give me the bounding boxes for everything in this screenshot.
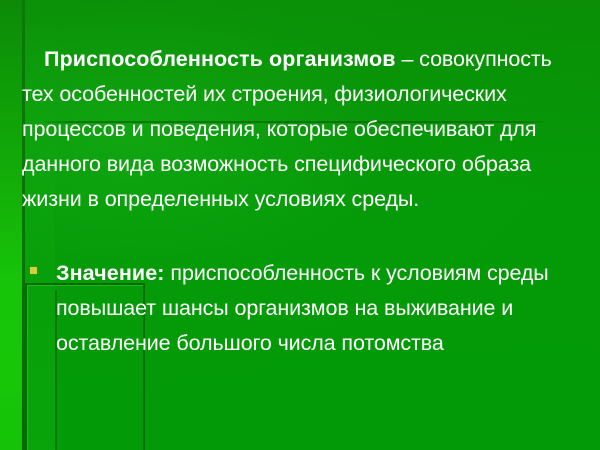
definition-paragraph: Приспособленность организмов – совокупно…	[22, 42, 572, 217]
definition-term: Приспособленность организмов	[44, 47, 396, 71]
bullet-item-term: Значение:	[56, 261, 165, 285]
square-bullet-icon	[30, 267, 37, 274]
list-item: Значение: приспособленность к условиям с…	[30, 256, 578, 361]
slide-canvas: Приспособленность организмов – совокупно…	[0, 0, 600, 450]
slide-content: Приспособленность организмов – совокупно…	[0, 0, 600, 450]
definition-body: – совокупность тех особенностей их строе…	[22, 47, 552, 211]
bullet-item-text: Значение: приспособленность к условиям с…	[56, 256, 578, 361]
